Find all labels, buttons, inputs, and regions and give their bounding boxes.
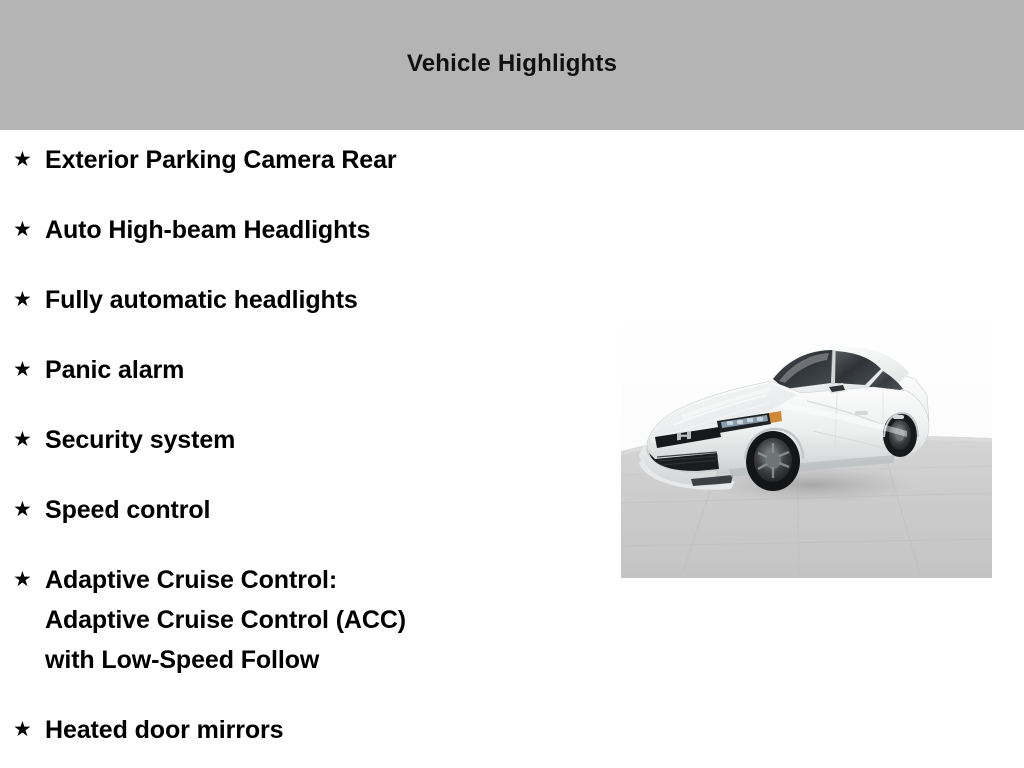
star-icon: ★ — [13, 280, 45, 320]
list-item: ★ Adaptive Cruise Control: Adaptive Crui… — [0, 560, 610, 680]
page-title: Vehicle Highlights — [407, 50, 617, 80]
content-area: ★ Exterior Parking Camera Rear ★ Auto Hi… — [0, 130, 1024, 768]
star-icon: ★ — [13, 710, 45, 750]
star-icon: ★ — [13, 420, 45, 460]
list-item: ★ Panic alarm — [0, 350, 610, 390]
list-item: ★ Exterior Parking Camera Rear — [0, 140, 610, 180]
header-bar: Vehicle Highlights — [0, 0, 1024, 130]
vehicle-highlights-page: Vehicle Highlights ★ Exterior Parking Ca… — [0, 0, 1024, 768]
list-item: ★ Auto High-beam Headlights — [0, 210, 610, 250]
star-icon: ★ — [13, 490, 45, 530]
front-wheel — [746, 431, 800, 491]
highlight-label: Auto High-beam Headlights — [45, 210, 610, 250]
star-icon: ★ — [13, 560, 45, 600]
vehicle-photo — [621, 303, 992, 578]
highlight-label: Security system — [45, 420, 610, 460]
highlight-label: Panic alarm — [45, 350, 610, 390]
highlight-label: Exterior Parking Camera Rear — [45, 140, 610, 180]
list-item: ★ Fully automatic headlights — [0, 280, 610, 320]
star-icon: ★ — [13, 210, 45, 250]
list-item: ★ Speed control — [0, 490, 610, 530]
list-item: ★ Heated door mirrors — [0, 710, 610, 750]
list-item: ★ Security system — [0, 420, 610, 460]
vehicle-photo-illustration — [621, 303, 992, 578]
vehicle-highlights-list: ★ Exterior Parking Camera Rear ★ Auto Hi… — [0, 140, 610, 750]
highlight-label: Fully automatic headlights — [45, 280, 610, 320]
highlight-label: Heated door mirrors — [45, 710, 610, 750]
highlight-label: Speed control — [45, 490, 610, 530]
highlight-label: Adaptive Cruise Control: Adaptive Cruise… — [45, 560, 610, 680]
star-icon: ★ — [13, 140, 45, 180]
star-icon: ★ — [13, 350, 45, 390]
